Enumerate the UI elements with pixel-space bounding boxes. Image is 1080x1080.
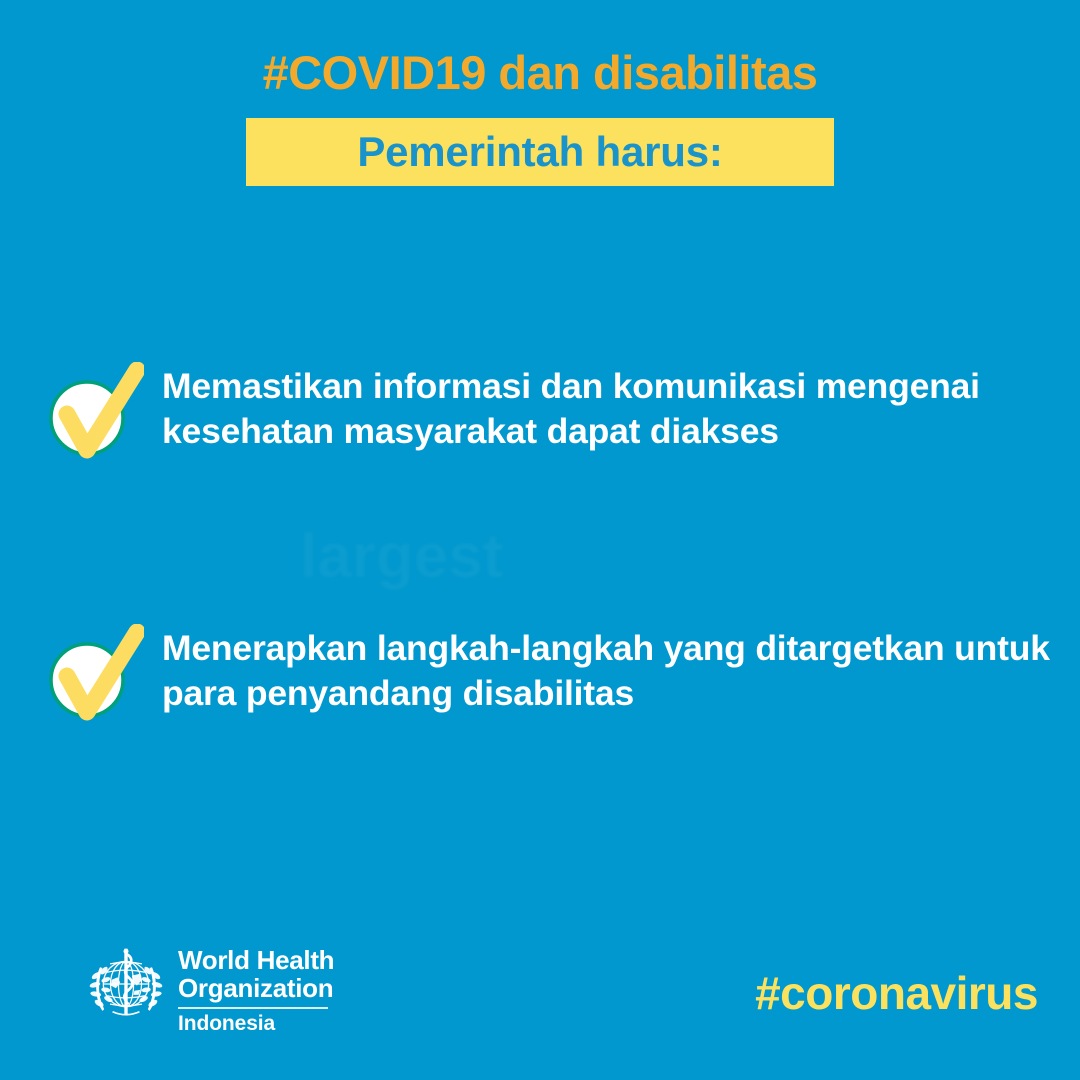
hashtag-coronavirus: #coronavirus bbox=[755, 970, 1038, 1016]
who-divider bbox=[178, 1007, 328, 1009]
who-name-line-2: Organization bbox=[178, 975, 334, 1003]
list-item-label: Menerapkan langkah-langkah yang ditarget… bbox=[162, 620, 1050, 715]
list-item-label: Memastikan informasi dan komunikasi meng… bbox=[162, 358, 1050, 453]
page-title: #COVID19 dan disabilitas bbox=[0, 48, 1080, 97]
who-logo: World Health Organization Indonesia bbox=[84, 942, 334, 1034]
check-circle-icon bbox=[40, 362, 144, 466]
poster-canvas: #COVID19 dan disabilitas Pemerintah haru… bbox=[0, 0, 1080, 1080]
who-country-label: Indonesia bbox=[178, 1013, 334, 1034]
list-item: Memastikan informasi dan komunikasi meng… bbox=[40, 358, 1050, 466]
subtitle-label: Pemerintah harus: bbox=[357, 131, 722, 173]
subtitle-banner: Pemerintah harus: bbox=[246, 118, 834, 186]
who-name-line-1: World Health bbox=[178, 947, 334, 975]
who-emblem-icon bbox=[84, 942, 168, 1026]
check-circle-icon bbox=[40, 624, 144, 728]
list-item: Menerapkan langkah-langkah yang ditarget… bbox=[40, 620, 1050, 728]
who-wordmark: World Health Organization Indonesia bbox=[178, 942, 334, 1034]
